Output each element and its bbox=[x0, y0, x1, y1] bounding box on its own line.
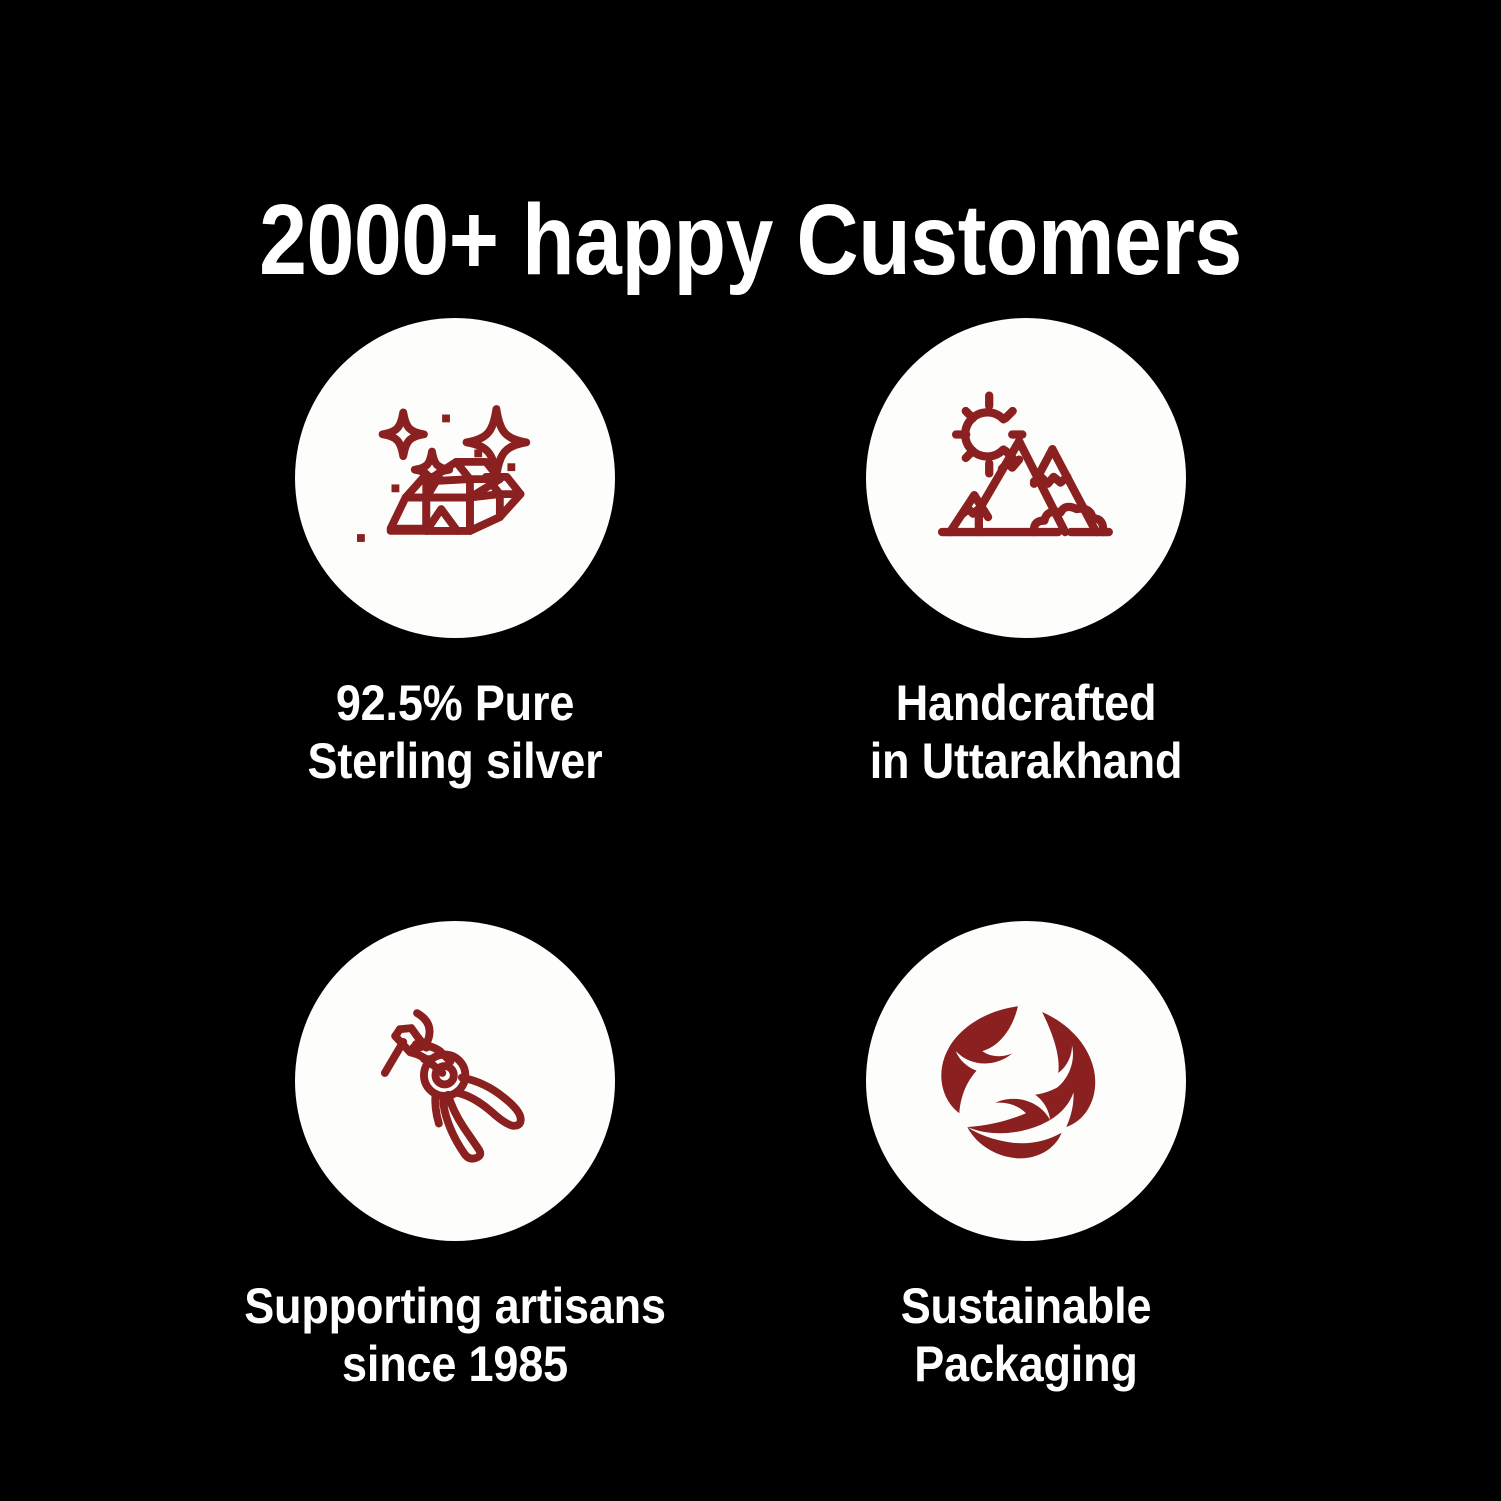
pliers-tool-icon bbox=[340, 966, 570, 1196]
silver-bars-sparkle-icon bbox=[340, 363, 570, 593]
feature-item-sustainable-packaging: Sustainable Packaging bbox=[746, 921, 1306, 1393]
feature-item-sterling-silver: 92.5% Pure Sterling silver bbox=[175, 318, 735, 790]
feature-label: Sustainable Packaging bbox=[774, 1277, 1278, 1393]
icon-circle bbox=[866, 921, 1186, 1241]
feature-label: 92.5% Pure Sterling silver bbox=[203, 674, 707, 790]
icon-circle bbox=[866, 318, 1186, 638]
feature-grid: 92.5% Pure Sterling silver bbox=[0, 318, 1501, 1438]
feature-label: Supporting artisans since 1985 bbox=[203, 1277, 707, 1393]
feature-item-handcrafted: Handcrafted in Uttarakhand bbox=[746, 318, 1306, 790]
promo-banner: 2000+ happy Customers bbox=[0, 0, 1501, 1501]
icon-circle bbox=[295, 318, 615, 638]
mountains-sun-icon bbox=[911, 363, 1141, 593]
feature-label: Handcrafted in Uttarakhand bbox=[774, 674, 1278, 790]
page-title: 2000+ happy Customers bbox=[105, 185, 1396, 295]
feature-item-artisans: Supporting artisans since 1985 bbox=[175, 921, 735, 1393]
icon-circle bbox=[295, 921, 615, 1241]
three-leaves-recycle-icon bbox=[911, 966, 1141, 1196]
